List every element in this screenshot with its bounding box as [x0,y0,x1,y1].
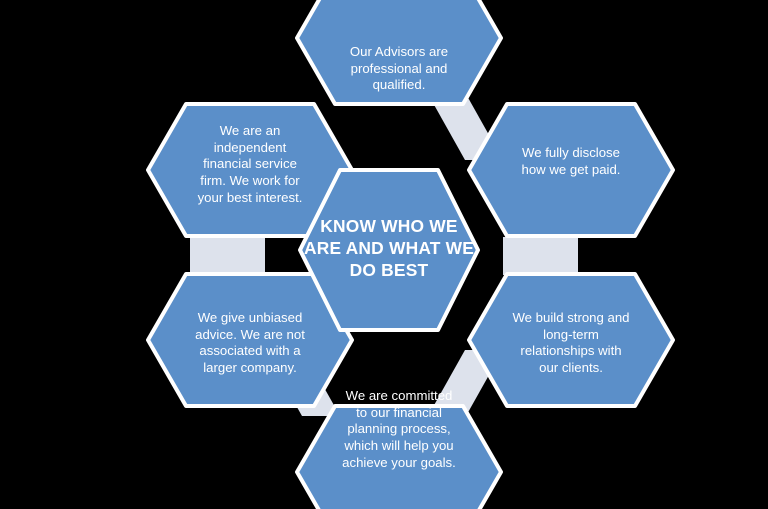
hex-upper-right[interactable] [469,104,673,236]
center-hex[interactable] [300,170,478,330]
hexagon-diagram-svg [0,0,768,509]
hex-lower-right[interactable] [469,274,673,406]
hexagon-diagram-canvas: Our Advisors are professional and qualif… [0,0,768,509]
hex-top[interactable] [297,0,501,104]
connector-lower-left-to-upper-left [190,237,265,275]
hex-bottom[interactable] [297,406,501,509]
connector-upper-right-to-lower-right [503,237,578,275]
